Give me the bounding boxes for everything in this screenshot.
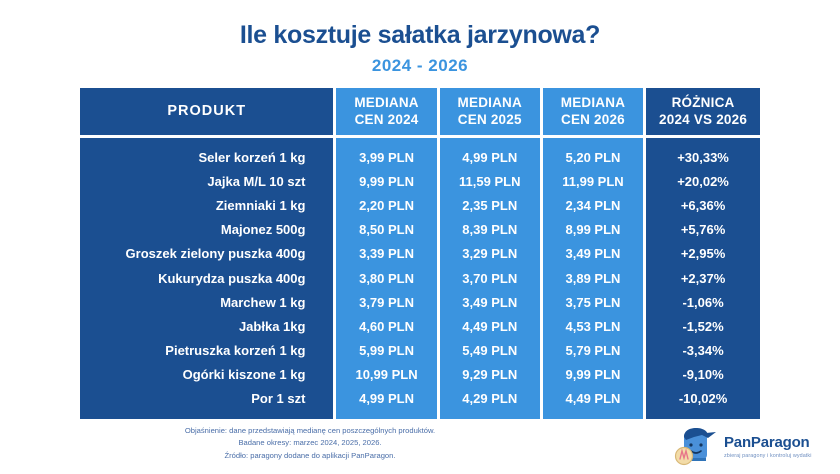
column-header-roznica: RÓŻNICA 2024 VS 2026 — [646, 88, 760, 135]
footnote: Objaśnienie: dane przedstawiają medianę … — [60, 425, 560, 462]
table-body: Seler korzeń 1 kgJajka M/L 10 sztZiemnia… — [80, 138, 760, 419]
table-cell-median-2026: 4,49 PLN — [543, 387, 643, 411]
column-header-mediana-2026-label: MEDIANA CEN 2026 — [561, 95, 625, 128]
column-median-2026: 5,20 PLN11,99 PLN2,34 PLN8,99 PLN3,49 PL… — [543, 138, 643, 419]
spacer-top-2025 — [440, 138, 540, 145]
table-cell-product: Jabłka 1kg — [80, 314, 333, 338]
spacer-top-products — [80, 138, 333, 145]
table-cell-difference: -9,10% — [646, 363, 760, 387]
column-difference: +30,33%+20,02%+6,36%+5,76%+2,95%+2,37%-1… — [646, 138, 760, 419]
table-cell-product: Seler korzeń 1 kg — [80, 145, 333, 169]
table-cell-difference: +2,95% — [646, 242, 760, 266]
table-cell-median-2025: 4,99 PLN — [440, 145, 540, 169]
spacer-bottom-2024 — [336, 411, 436, 419]
table-cell-difference: +6,36% — [646, 193, 760, 217]
table-cell-median-2024: 4,60 PLN — [336, 314, 436, 338]
table-cell-product: Groszek zielony puszka 400g — [80, 242, 333, 266]
panparagon-logo: PanParagon zbieraj paragony i kontroluj … — [672, 424, 832, 470]
table-cell-median-2025: 4,49 PLN — [440, 314, 540, 338]
infographic-page: Ile kosztuje sałatka jarzynowa? 2024 - 2… — [0, 0, 840, 472]
table-cell-median-2025: 3,29 PLN — [440, 242, 540, 266]
table-cell-median-2026: 5,79 PLN — [543, 339, 643, 363]
table-cell-median-2026: 3,75 PLN — [543, 290, 643, 314]
spacer-bottom-2026 — [543, 411, 643, 419]
difference-cells: +30,33%+20,02%+6,36%+5,76%+2,95%+2,37%-1… — [646, 145, 760, 411]
col2-line1: MEDIANA — [458, 95, 522, 110]
logo-tagline: zbieraj paragony i kontroluj wydatki — [724, 453, 812, 459]
column-header-mediana-2025-label: MEDIANA CEN 2025 — [458, 95, 522, 128]
table-cell-median-2025: 9,29 PLN — [440, 363, 540, 387]
median-2024-cells: 3,99 PLN9,99 PLN2,20 PLN8,50 PLN3,39 PLN… — [336, 145, 436, 411]
column-median-2025: 4,99 PLN11,59 PLN2,35 PLN8,39 PLN3,29 PL… — [440, 138, 540, 419]
column-header-mediana-2026: MEDIANA CEN 2026 — [543, 88, 643, 135]
table-cell-median-2026: 3,49 PLN — [543, 242, 643, 266]
table-header-row: PRODUKT MEDIANA CEN 2024 MEDIANA CEN 202… — [80, 88, 760, 135]
table-cell-median-2025: 11,59 PLN — [440, 169, 540, 193]
footnote-line-3: Źródło: paragony dodane do aplikacji Pan… — [60, 450, 560, 462]
spacer-bottom-diff — [646, 411, 760, 419]
table-cell-product: Majonez 500g — [80, 218, 333, 242]
table-cell-median-2024: 3,79 PLN — [336, 290, 436, 314]
table-cell-product: Por 1 szt — [80, 387, 333, 411]
table-cell-median-2025: 5,49 PLN — [440, 339, 540, 363]
table-cell-median-2025: 4,29 PLN — [440, 387, 540, 411]
col1-line1: MEDIANA — [354, 95, 418, 110]
table-cell-median-2026: 4,53 PLN — [543, 314, 643, 338]
table-cell-product: Marchew 1 kg — [80, 290, 333, 314]
table-cell-median-2024: 4,99 PLN — [336, 387, 436, 411]
table-cell-median-2024: 2,20 PLN — [336, 193, 436, 217]
table-cell-difference: +30,33% — [646, 145, 760, 169]
table-cell-median-2026: 2,34 PLN — [543, 193, 643, 217]
table-cell-median-2024: 5,99 PLN — [336, 339, 436, 363]
footnote-line-2: Badane okresy: marzec 2024, 2025, 2026. — [60, 437, 560, 449]
column-header-roznica-label: RÓŻNICA 2024 VS 2026 — [659, 95, 747, 128]
table-cell-median-2024: 10,99 PLN — [336, 363, 436, 387]
table-cell-difference: -3,34% — [646, 339, 760, 363]
col1-line2: CEN 2024 — [355, 112, 419, 127]
table-cell-difference: +2,37% — [646, 266, 760, 290]
table-cell-median-2025: 2,35 PLN — [440, 193, 540, 217]
median-2026-cells: 5,20 PLN11,99 PLN2,34 PLN8,99 PLN3,49 PL… — [543, 145, 643, 411]
column-products: Seler korzeń 1 kgJajka M/L 10 sztZiemnia… — [80, 138, 333, 419]
table-cell-difference: -1,52% — [646, 314, 760, 338]
logo-text-block: PanParagon zbieraj paragony i kontroluj … — [724, 435, 812, 459]
column-header-produkt: PRODUKT — [80, 88, 333, 135]
col2-line2: CEN 2025 — [458, 112, 522, 127]
table-cell-median-2025: 8,39 PLN — [440, 218, 540, 242]
table-cell-median-2026: 9,99 PLN — [543, 363, 643, 387]
table-cell-median-2024: 8,50 PLN — [336, 218, 436, 242]
spacer-top-2024 — [336, 138, 436, 145]
col4-line1: RÓŻNICA — [672, 95, 735, 110]
column-header-mediana-2025: MEDIANA CEN 2025 — [440, 88, 540, 135]
column-header-produkt-label: PRODUKT — [167, 103, 246, 121]
table-cell-median-2025: 3,49 PLN — [440, 290, 540, 314]
table-cell-difference: +20,02% — [646, 169, 760, 193]
column-median-2024: 3,99 PLN9,99 PLN2,20 PLN8,50 PLN3,39 PLN… — [336, 138, 436, 419]
table-cell-difference: -1,06% — [646, 290, 760, 314]
table-cell-median-2024: 3,39 PLN — [336, 242, 436, 266]
table-cell-difference: +5,76% — [646, 218, 760, 242]
panparagon-mascot-icon — [672, 425, 718, 469]
footnote-line-1: Objaśnienie: dane przedstawiają medianę … — [60, 425, 560, 437]
product-cells: Seler korzeń 1 kgJajka M/L 10 sztZiemnia… — [80, 145, 333, 411]
spacer-bottom-products — [80, 411, 333, 419]
col3-line1: MEDIANA — [561, 95, 625, 110]
price-table: PRODUKT MEDIANA CEN 2024 MEDIANA CEN 202… — [80, 88, 760, 419]
spacer-top-2026 — [543, 138, 643, 145]
median-2025-cells: 4,99 PLN11,59 PLN2,35 PLN8,39 PLN3,29 PL… — [440, 145, 540, 411]
col3-line2: CEN 2026 — [561, 112, 625, 127]
table-cell-product: Jajka M/L 10 szt — [80, 169, 333, 193]
page-subtitle: 2024 - 2026 — [0, 56, 840, 76]
table-cell-median-2024: 3,99 PLN — [336, 145, 436, 169]
spacer-top-diff — [646, 138, 760, 145]
table-cell-median-2026: 11,99 PLN — [543, 169, 643, 193]
col4-line2: 2024 VS 2026 — [659, 112, 747, 127]
table-cell-product: Kukurydza puszka 400g — [80, 266, 333, 290]
table-cell-difference: -10,02% — [646, 387, 760, 411]
table-cell-median-2024: 9,99 PLN — [336, 169, 436, 193]
table-cell-product: Pietruszka korzeń 1 kg — [80, 339, 333, 363]
table-cell-median-2024: 3,80 PLN — [336, 266, 436, 290]
spacer-bottom-2025 — [440, 411, 540, 419]
page-title: Ile kosztuje sałatka jarzynowa? — [0, 0, 840, 50]
column-header-mediana-2024: MEDIANA CEN 2024 — [336, 88, 436, 135]
table-cell-median-2026: 5,20 PLN — [543, 145, 643, 169]
table-cell-product: Ogórki kiszone 1 kg — [80, 363, 333, 387]
logo-wordmark: PanParagon — [724, 435, 812, 450]
table-cell-median-2026: 3,89 PLN — [543, 266, 643, 290]
table-cell-product: Ziemniaki 1 kg — [80, 193, 333, 217]
table-cell-median-2026: 8,99 PLN — [543, 218, 643, 242]
column-header-mediana-2024-label: MEDIANA CEN 2024 — [354, 95, 418, 128]
table-cell-median-2025: 3,70 PLN — [440, 266, 540, 290]
